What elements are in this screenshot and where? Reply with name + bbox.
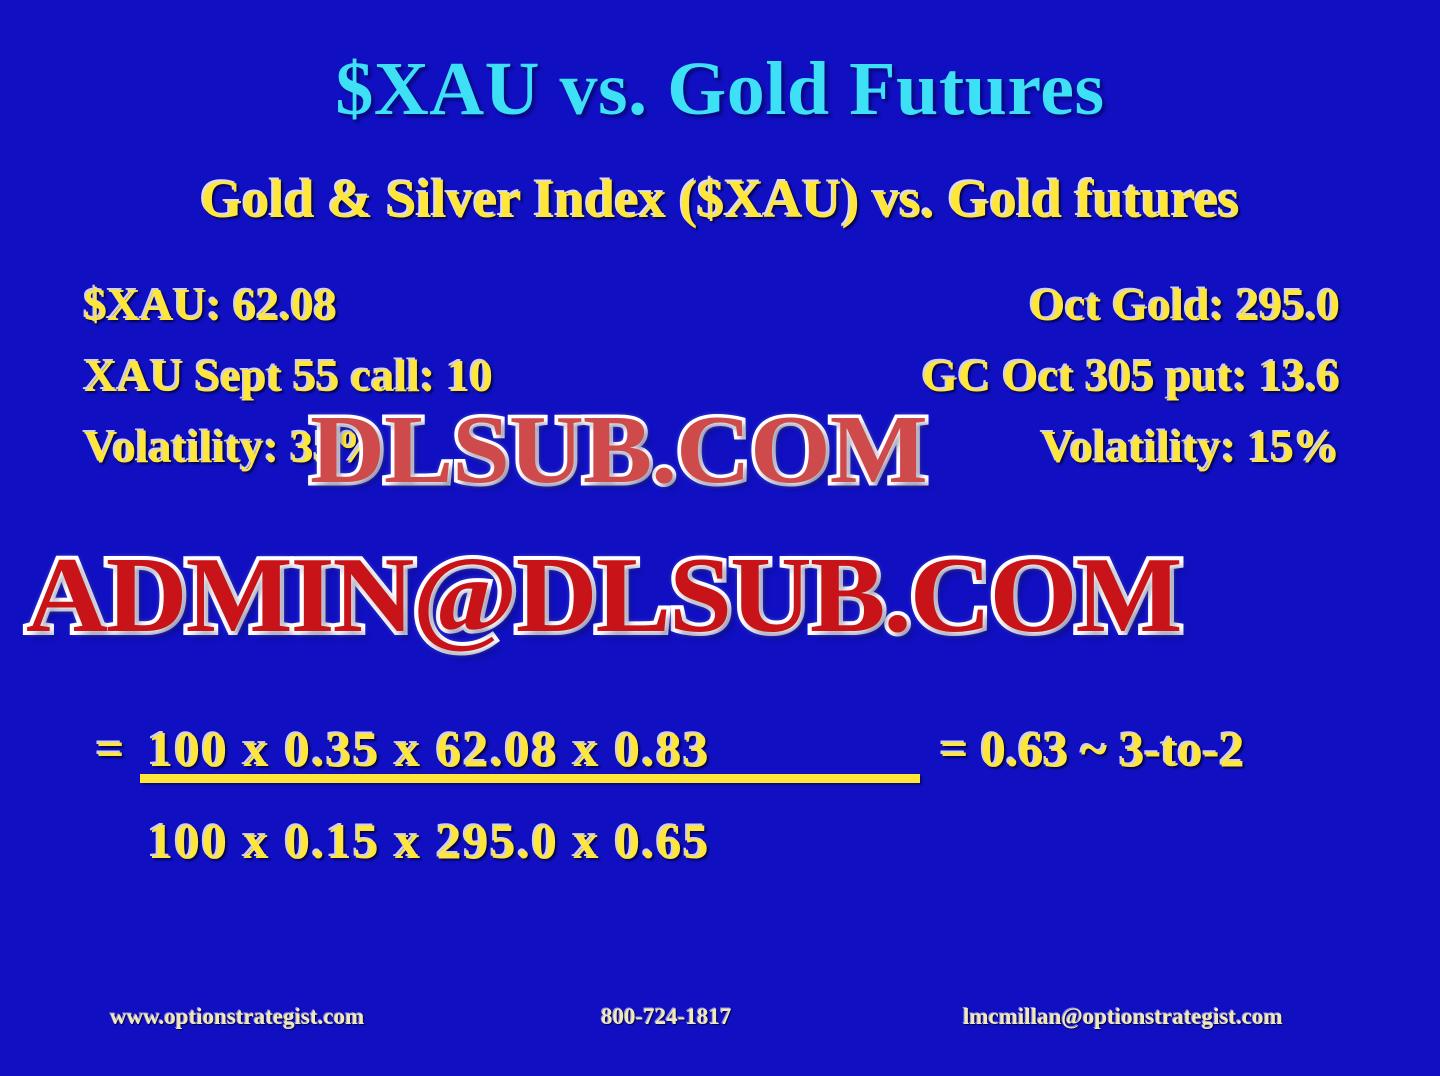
footer-website[interactable]: www.optionstrategist.com [110, 1004, 364, 1030]
footer-email[interactable]: lmcmillan@optionstrategist.com [963, 1004, 1283, 1030]
page-title: $XAU vs. Gold Futures [0, 46, 1440, 133]
formula-numerator: 100 x 0.35 x 62.08 x 0.83 [148, 720, 711, 778]
fraction-bar [140, 774, 920, 783]
formula-equals-sign: = [96, 720, 125, 778]
spec-xau-call: XAU Sept 55 call: 10 [84, 349, 493, 402]
hedge-ratio-formula: = 100 x 0.35 x 62.08 x 0.83 100 x 0.15 x… [0, 712, 1440, 892]
footer-phone: 800-724-1817 [601, 1004, 731, 1030]
spec-gold-volatility: Volatility: 15% [1041, 420, 1340, 473]
slide-subtitle: Gold & Silver Index ($XAU) vs. Gold futu… [0, 168, 1440, 230]
spec-block: $XAU: 62.08 Oct Gold: 295.0 XAU Sept 55 … [0, 278, 1440, 493]
spec-gc-put: GC Oct 305 put: 13.6 [922, 349, 1340, 402]
spec-row: XAU Sept 55 call: 10 GC Oct 305 put: 13.… [0, 349, 1440, 420]
spec-gold-price: Oct Gold: 295.0 [1030, 278, 1340, 331]
watermark-email: ADMIN@DLSUB.COM [26, 534, 1180, 658]
formula-denominator: 100 x 0.15 x 295.0 x 0.65 [148, 812, 711, 870]
spec-row: Volatility: 35% Volatility: 15% [0, 420, 1440, 491]
spec-row: $XAU: 62.08 Oct Gold: 295.0 [0, 278, 1440, 349]
presentation-slide: $XAU vs. Gold Futures Gold & Silver Inde… [0, 0, 1440, 1076]
formula-result: = 0.63 ~ 3-to-2 [940, 720, 1244, 778]
slide-footer: www.optionstrategist.com 800-724-1817 lm… [0, 1004, 1440, 1038]
spec-xau-volatility: Volatility: 35% [84, 420, 383, 473]
spec-xau-price: $XAU: 62.08 [84, 278, 337, 331]
